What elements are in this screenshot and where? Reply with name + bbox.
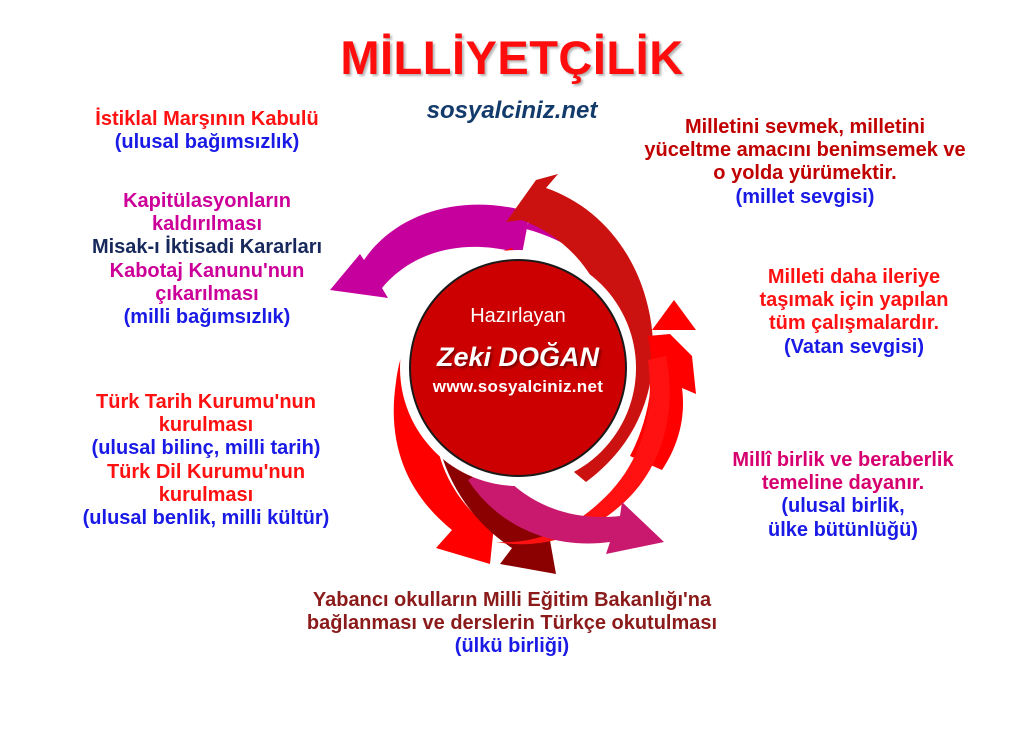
text-line: o yolda yürümektir. xyxy=(608,162,1002,185)
text-line: Yabancı okulların Milli Eğitim Bakanlığı… xyxy=(232,589,792,612)
text-line: (milli bağımsızlık) xyxy=(58,306,356,329)
text-line: taşımak için yapılan xyxy=(710,289,998,312)
prepared-by-label: Hazırlayan xyxy=(410,305,626,327)
text-line: bağlanması ve derslerin Türkçe okutulmas… xyxy=(232,612,792,635)
text-line: ülke bütünlüğü) xyxy=(690,519,996,542)
author-name: Zeki DOĞAN xyxy=(410,343,626,371)
text-block-kurumlar: Türk Tarih Kurumu'nun kurulması (ulusal … xyxy=(48,391,364,530)
text-block-kapitulasyonlar: Kapitülasyonların kaldırılması Misak-ı İ… xyxy=(58,190,356,329)
text-block-ulusal-birlik: Millî birlik ve beraberlik temeline daya… xyxy=(690,449,996,542)
text-block-millet-sevgisi: Milletini sevmek, milletini yüceltme ama… xyxy=(608,116,1002,209)
text-line: tüm çalışmalardır. xyxy=(710,312,998,335)
website-label: www.sosyalciniz.net xyxy=(410,378,626,396)
text-line: yüceltme amacını benimsemek ve xyxy=(608,139,1002,162)
text-line: Misak-ı İktisadi Kararları xyxy=(58,236,356,259)
text-line: (millet sevgisi) xyxy=(608,186,1002,209)
text-line: Kapitülasyonların xyxy=(58,190,356,213)
center-circle-text: Hazırlayan Zeki DOĞAN www.sosyalciniz.ne… xyxy=(410,305,626,396)
page-title: MİLLİYETÇİLİK xyxy=(0,30,1024,85)
text-line: kaldırılması xyxy=(58,213,356,236)
text-line: çıkarılması xyxy=(58,283,356,306)
text-line: kurulması xyxy=(48,484,364,507)
text-block-ulku-birligi: Yabancı okulların Milli Eğitim Bakanlığı… xyxy=(232,589,792,659)
diagram-canvas: MİLLİYETÇİLİK sosyalciniz.net xyxy=(0,0,1024,744)
text-line: Türk Tarih Kurumu'nun xyxy=(48,391,364,414)
text-line: Milletini sevmek, milletini xyxy=(608,116,1002,139)
text-line: İstiklal Marşının Kabulü xyxy=(62,108,352,131)
text-line: Kabotaj Kanunu'nun xyxy=(58,260,356,283)
text-line: (ülkü birliği) xyxy=(232,635,792,658)
text-block-istiklal-marsi: İstiklal Marşının Kabulü (ulusal bağımsı… xyxy=(62,108,352,154)
text-line: Türk Dil Kurumu'nun xyxy=(48,461,364,484)
text-line: (ulusal bağımsızlık) xyxy=(62,131,352,154)
text-line: Milleti daha ileriye xyxy=(710,266,998,289)
text-line: Millî birlik ve beraberlik xyxy=(690,449,996,472)
text-block-vatan-sevgisi: Milleti daha ileriye taşımak için yapıla… xyxy=(710,266,998,359)
text-line: (ulusal birlik, xyxy=(690,495,996,518)
text-line: (ulusal bilinç, milli tarih) xyxy=(48,437,364,460)
text-line: temeline dayanır. xyxy=(690,472,996,495)
text-line: (Vatan sevgisi) xyxy=(710,336,998,359)
text-line: (ulusal benlik, milli kültür) xyxy=(48,507,364,530)
text-line: kurulması xyxy=(48,414,364,437)
